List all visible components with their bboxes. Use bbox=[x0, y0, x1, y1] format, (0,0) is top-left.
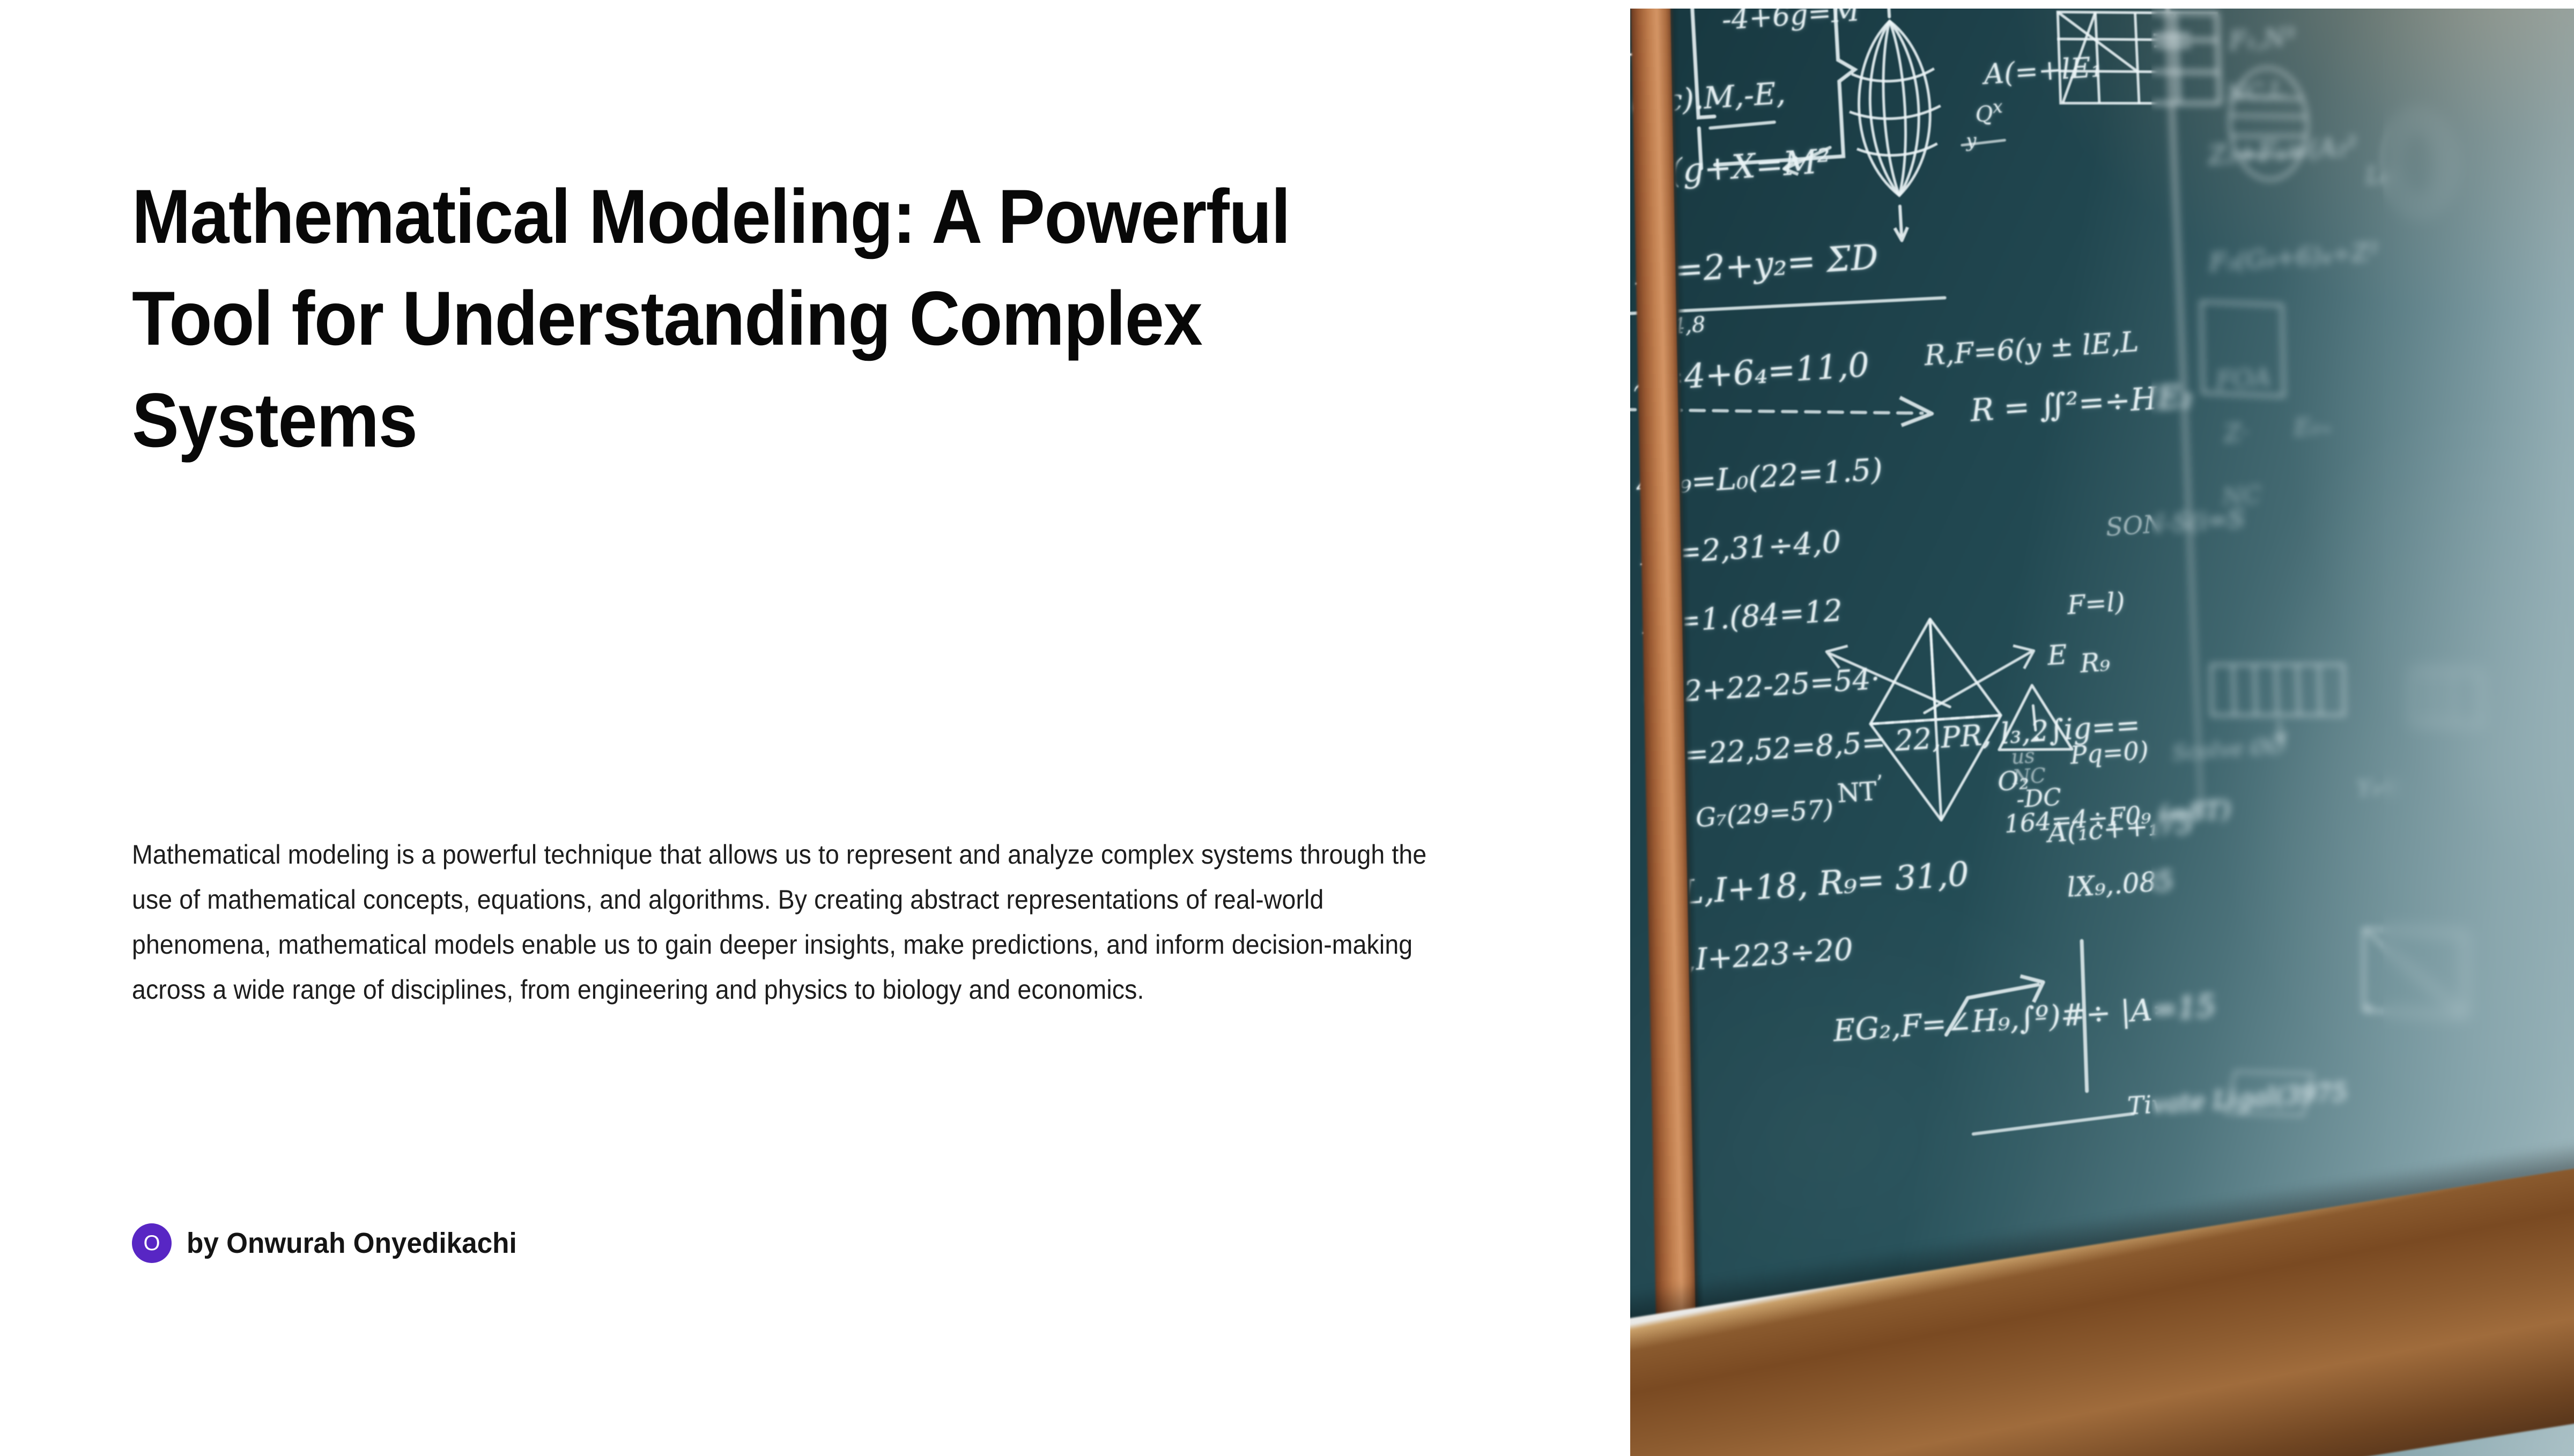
page-title: Mathematical Modeling: A Powerful Tool f… bbox=[132, 166, 1356, 472]
article-text-column: Mathematical Modeling: A Powerful Tool f… bbox=[0, 0, 1609, 1447]
byline-author-name: by Onwurah Onyedikachi bbox=[187, 1227, 517, 1260]
byline: O by Onwurah Onyedikachi bbox=[132, 1223, 534, 1263]
article-summary: Mathematical modeling is a powerful tech… bbox=[132, 832, 1429, 1012]
avatar: O bbox=[132, 1223, 172, 1263]
hero-image: -4+6g=M + (Cc).M,-E, F(g+X=M² R₅=2+y₂= Σ… bbox=[1630, 9, 2574, 1456]
chalkboard-photo: -4+6g=M + (Cc).M,-E, F(g+X=M² R₅=2+y₂= Σ… bbox=[1630, 9, 2574, 1456]
article-hero-page: Mathematical Modeling: A Powerful Tool f… bbox=[0, 0, 2574, 1447]
